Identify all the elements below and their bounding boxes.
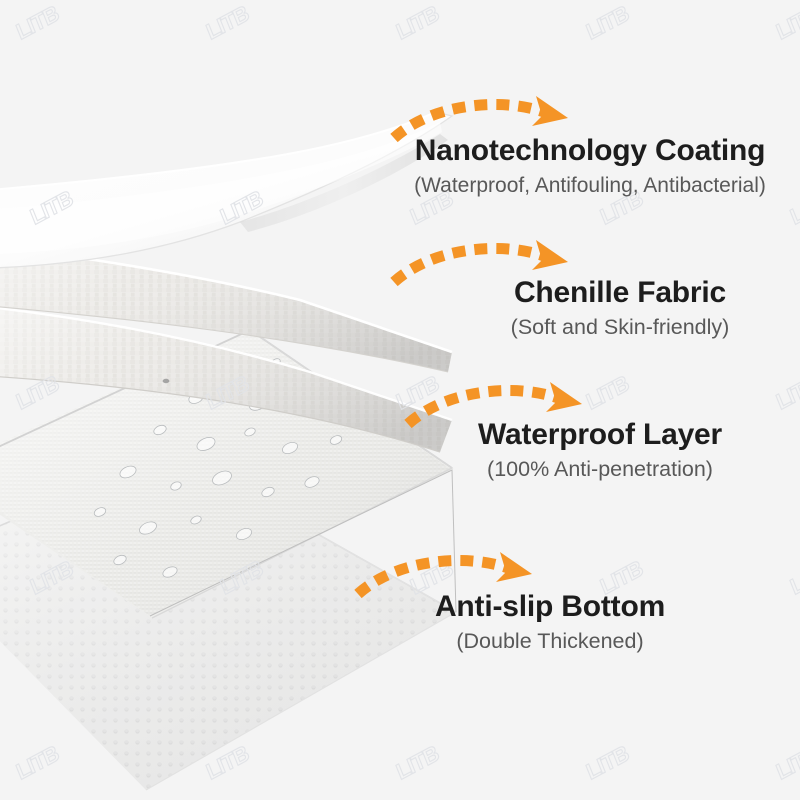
callout-label-block: Chenille Fabric (Soft and Skin-friendly) (410, 276, 800, 340)
watermark-text: LITB (773, 740, 800, 785)
callout-label-block: Nanotechnology Coating (Waterproof, Anti… (380, 134, 800, 198)
callout-title: Anti-slip Bottom (340, 590, 760, 624)
watermark-text: LITB (773, 0, 800, 45)
callout-subtitle: (Double Thickened) (340, 629, 760, 655)
callout-title: Waterproof Layer (390, 418, 800, 452)
watermark-text: LITB (773, 370, 800, 415)
watermark-text: LITB (787, 555, 800, 600)
watermark-text: LITB (583, 370, 632, 415)
callout-label-block: Anti-slip Bottom (Double Thickened) (340, 590, 760, 654)
callout-subtitle: (Soft and Skin-friendly) (410, 315, 800, 341)
watermark-text: LITB (583, 0, 632, 45)
callout-subtitle: (Waterproof, Antifouling, Antibacterial) (380, 173, 800, 198)
callout-title: Chenille Fabric (410, 276, 800, 310)
watermark-text: LITB (583, 740, 632, 785)
product-layer-infographic: LITBLITBLITBLITBLITBLITBLITBLITBLITBLITB… (0, 0, 800, 800)
callout-title: Nanotechnology Coating (380, 134, 800, 168)
callout-label-block: Waterproof Layer (100% Anti-penetration) (390, 418, 800, 482)
callout-subtitle: (100% Anti-penetration) (390, 457, 800, 483)
